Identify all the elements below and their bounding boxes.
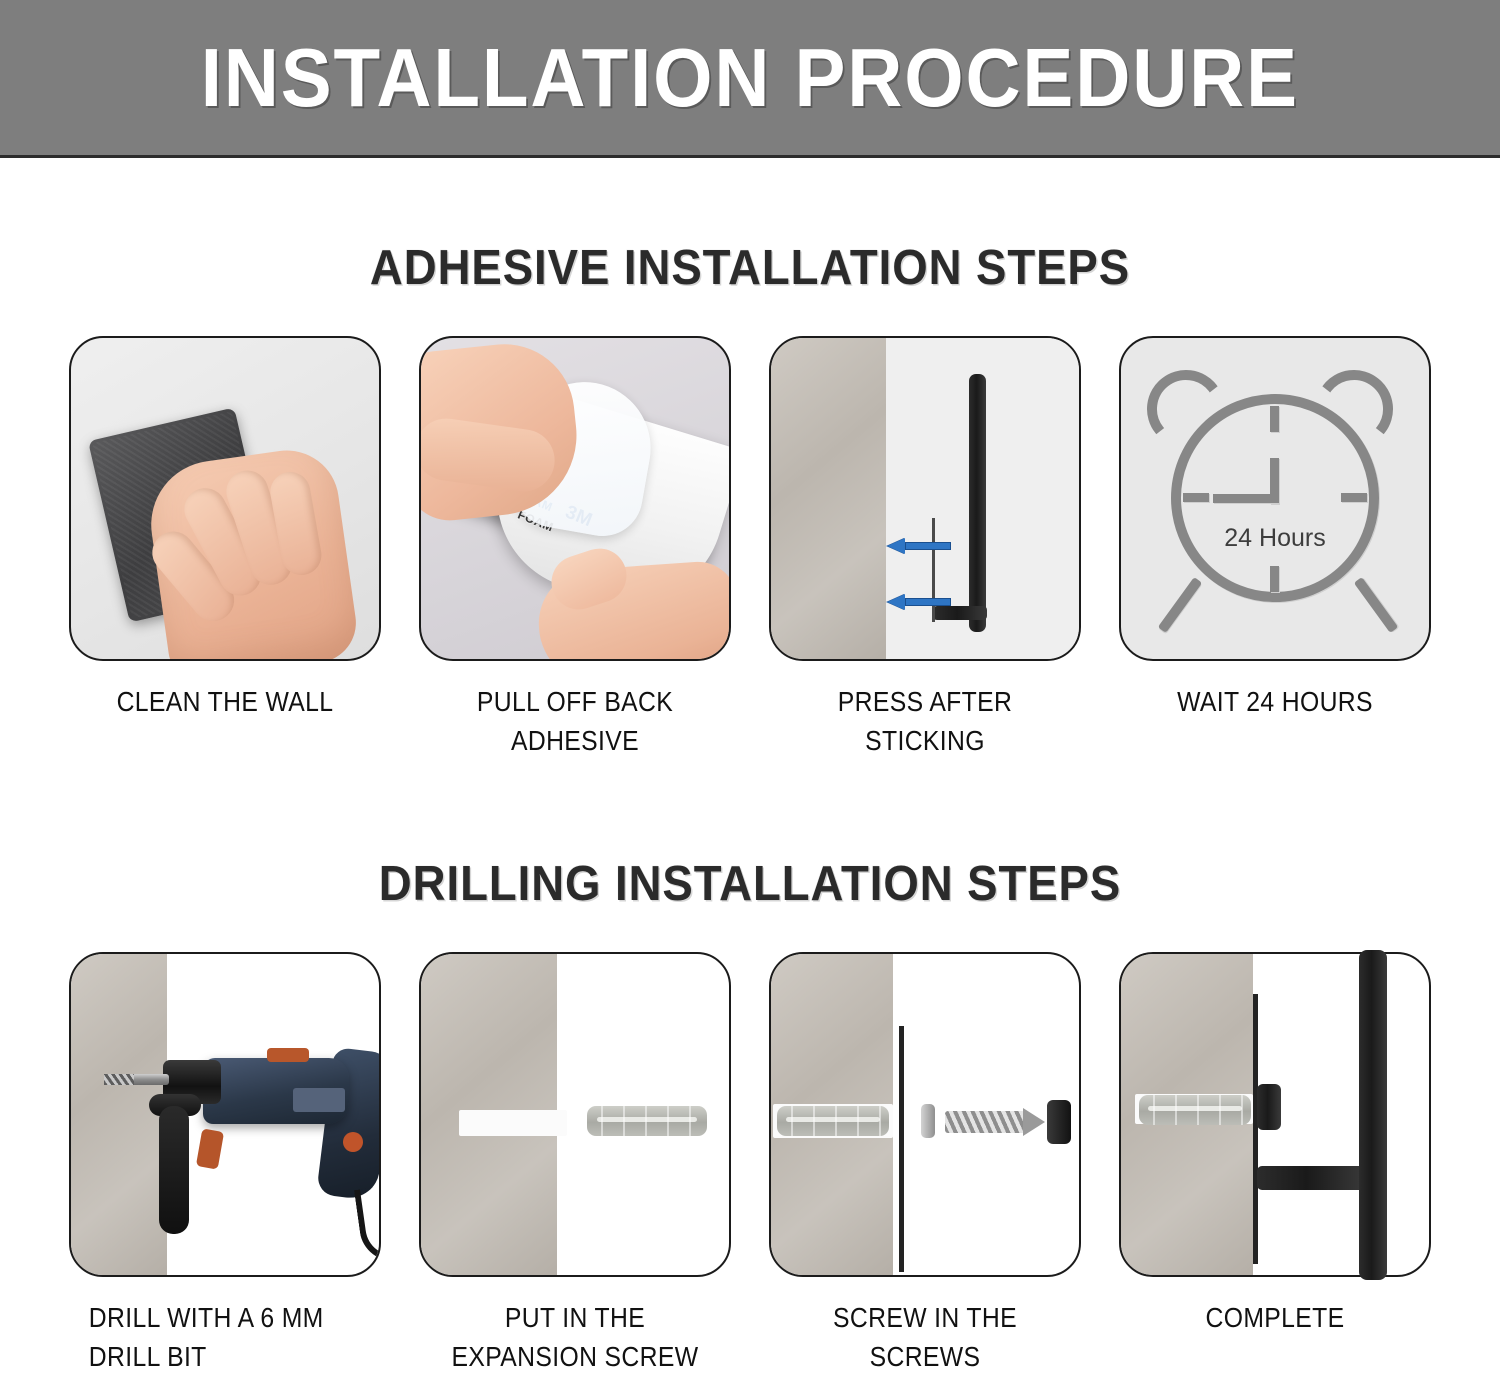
- clock-tick-6: [1270, 566, 1279, 592]
- base-cap-icon: [1047, 1100, 1071, 1144]
- panel-expansion-screw: [419, 952, 731, 1277]
- step-screw-in-the-screws: SCREW IN THE SCREWS: [769, 952, 1081, 1376]
- drill-top-accent: [267, 1048, 309, 1062]
- drill-trigger-icon: [196, 1128, 224, 1169]
- holder-vertical-post: [1359, 950, 1387, 1280]
- washer-icon: [921, 1104, 935, 1138]
- hand-icon: [143, 444, 361, 661]
- drill-handle-icon: [159, 1106, 189, 1234]
- step-pull-off-back-adhesive: PE FOAM FOAM 3M PULL OFF BACK ADHESIVE: [419, 336, 731, 760]
- clock-tick-9: [1183, 493, 1209, 502]
- base-cap-icon: [1257, 1084, 1281, 1130]
- step-wait-24-hours: 24 Hours WAIT 24 HOURS: [1119, 336, 1431, 721]
- clock-label: 24 Hours: [1121, 524, 1429, 553]
- adhesive-steps-row: CLEAN THE WALL PE FOAM FOAM 3M PULL OFF …: [0, 336, 1500, 760]
- section-heading-adhesive: ADHESIVE INSTALLATION STEPS: [53, 240, 1448, 296]
- screw-thread-icon: [945, 1111, 1025, 1133]
- panel-pull-adhesive: PE FOAM FOAM 3M: [419, 336, 731, 661]
- step-drill-with-6mm-bit: DRILL WITH A 6 MM DRILL BIT: [69, 952, 381, 1376]
- drill-power-cord: [354, 1183, 381, 1266]
- wall-surface-line: [1253, 994, 1258, 1264]
- press-arrow-icon: [887, 538, 951, 553]
- clock-hand-minute: [1213, 494, 1279, 503]
- panel-drill: [69, 952, 381, 1277]
- holder-vertical-post: [969, 374, 986, 632]
- step-clean-the-wall: CLEAN THE WALL: [69, 336, 381, 721]
- step-caption: PULL OFF BACK ADHESIVE: [435, 682, 716, 760]
- screw-head-icon: [1023, 1108, 1045, 1136]
- clock-tick-3: [1341, 493, 1367, 502]
- step-caption: DRILL WITH A 6 MM DRILL BIT: [69, 1298, 350, 1376]
- step-caption: CLEAN THE WALL: [85, 682, 366, 721]
- step-complete: COMPLETE: [1119, 952, 1431, 1337]
- drill-bit-icon: [105, 1074, 169, 1085]
- wall-surface-line: [899, 1026, 904, 1272]
- drill-label-plate: [293, 1088, 345, 1112]
- expansion-anchor-icon: [1139, 1095, 1251, 1125]
- marble-wall-texture: [71, 954, 167, 1275]
- expansion-anchor-icon: [777, 1106, 889, 1136]
- step-caption: WAIT 24 HOURS: [1135, 682, 1416, 721]
- holder-horizontal-arm: [1257, 1166, 1367, 1190]
- page-title: INSTALLATION PROCEDURE: [201, 30, 1299, 126]
- press-arrow-icon: [887, 594, 951, 609]
- expansion-anchor-icon: [587, 1106, 707, 1136]
- step-press-after-sticking: PRESS AFTER STICKING: [769, 336, 1081, 760]
- header-banner: INSTALLATION PROCEDURE: [0, 0, 1500, 158]
- step-caption: PRESS AFTER STICKING: [785, 682, 1066, 760]
- clock-leg-right-icon: [1354, 577, 1399, 633]
- drilled-hole: [459, 1110, 567, 1136]
- panel-screw-in: [769, 952, 1081, 1277]
- marble-wall-texture: [771, 338, 886, 659]
- panel-wait-clock: 24 Hours: [1119, 336, 1431, 661]
- step-put-in-expansion-screw: PUT IN THE EXPANSION SCREW: [419, 952, 731, 1376]
- step-caption: SCREW IN THE SCREWS: [785, 1298, 1066, 1376]
- step-caption: COMPLETE: [1135, 1298, 1416, 1337]
- panel-complete: [1119, 952, 1431, 1277]
- clock-leg-left-icon: [1158, 577, 1203, 633]
- panel-press-sticking: [769, 336, 1081, 661]
- section-heading-drilling: DRILLING INSTALLATION STEPS: [53, 856, 1448, 912]
- step-caption: PUT IN THE EXPANSION SCREW: [435, 1298, 716, 1376]
- drill-button-icon: [343, 1132, 363, 1152]
- panel-clean-wall: [69, 336, 381, 661]
- drilling-steps-row: DRILL WITH A 6 MM DRILL BIT PUT IN THE E…: [0, 952, 1500, 1376]
- clock-tick-12: [1270, 406, 1279, 432]
